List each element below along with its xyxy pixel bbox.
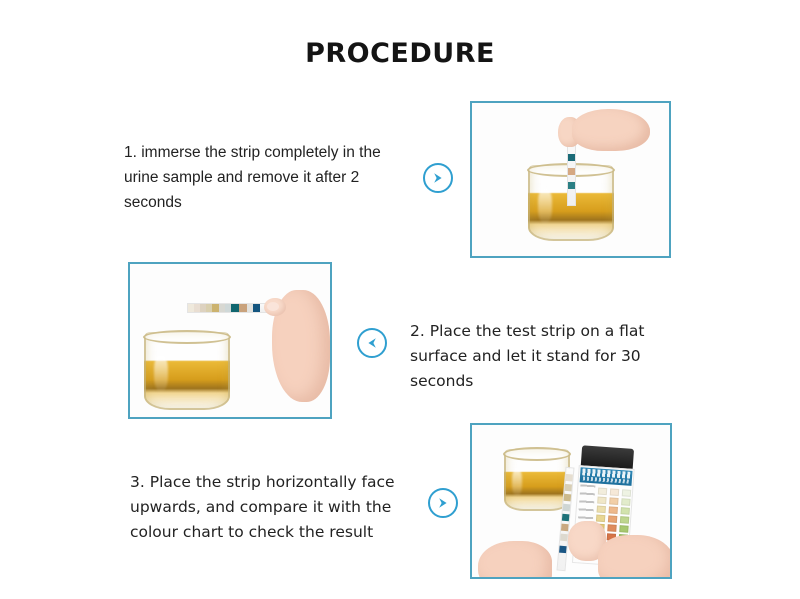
chart-swatch — [596, 514, 605, 522]
strip-pad — [561, 524, 569, 532]
strip-pad — [253, 304, 260, 312]
photo-step-1 — [470, 101, 671, 258]
strip-pad — [568, 168, 575, 175]
photo-step-2-image — [130, 264, 330, 417]
photo-step-2 — [128, 262, 332, 419]
chart-swatch — [608, 515, 617, 523]
photo-step-3-image — [472, 425, 670, 577]
strip-pad — [239, 304, 247, 312]
step-2-text: 2. Place the test strip on a flat surfac… — [410, 319, 680, 394]
strip-pad — [231, 304, 239, 312]
arrow-left-circle-icon[interactable] — [357, 328, 387, 358]
strip-pad — [562, 514, 570, 522]
strip-pad — [563, 504, 571, 512]
glass-highlight — [512, 468, 523, 497]
arrow-right-circle-icon[interactable] — [428, 488, 458, 518]
chart-swatch — [610, 488, 619, 496]
strip-pad — [565, 474, 573, 482]
step-3-text: 3. Place the strip horizontally face upw… — [130, 470, 430, 545]
glass-rim — [503, 447, 571, 461]
strip-pad — [568, 154, 575, 161]
procedure-infographic: PROCEDURE 1. immerse the strip completel… — [0, 0, 800, 599]
fingernail — [267, 302, 279, 311]
test-strip-horizontal — [187, 303, 273, 313]
chart-swatch — [621, 498, 630, 506]
chart-swatch — [607, 524, 616, 532]
strip-pad — [564, 484, 572, 492]
thumb — [264, 298, 286, 316]
step-1-text: 1. immerse the strip completely in the u… — [124, 140, 414, 215]
chart-swatch — [622, 489, 631, 497]
hand-right — [598, 535, 672, 579]
hand-left — [478, 541, 552, 579]
strip-pad — [564, 494, 572, 502]
strip-pad — [212, 304, 219, 312]
chart-swatch — [597, 506, 606, 514]
photo-step-3 — [470, 423, 672, 579]
strip-pad — [568, 182, 575, 189]
chart-swatch — [620, 516, 629, 524]
glass-rim — [143, 330, 231, 344]
strip-pad — [559, 546, 567, 554]
strip-pad — [560, 534, 568, 542]
urine-glass — [504, 449, 570, 511]
glass-highlight — [538, 188, 552, 223]
photo-step-1-image — [472, 103, 669, 256]
chart-swatch — [619, 525, 628, 533]
bottle-label-band — [580, 467, 633, 486]
urine-glass — [144, 332, 230, 410]
chart-swatch — [620, 507, 629, 515]
page-title: PROCEDURE — [0, 38, 800, 69]
chart-swatch — [609, 497, 618, 505]
arrow-right-circle-icon[interactable] — [423, 163, 453, 193]
chart-swatch — [598, 488, 607, 496]
glass-highlight — [154, 355, 168, 391]
hand — [572, 109, 650, 151]
chart-swatch — [597, 497, 606, 505]
chart-swatch — [608, 506, 617, 514]
